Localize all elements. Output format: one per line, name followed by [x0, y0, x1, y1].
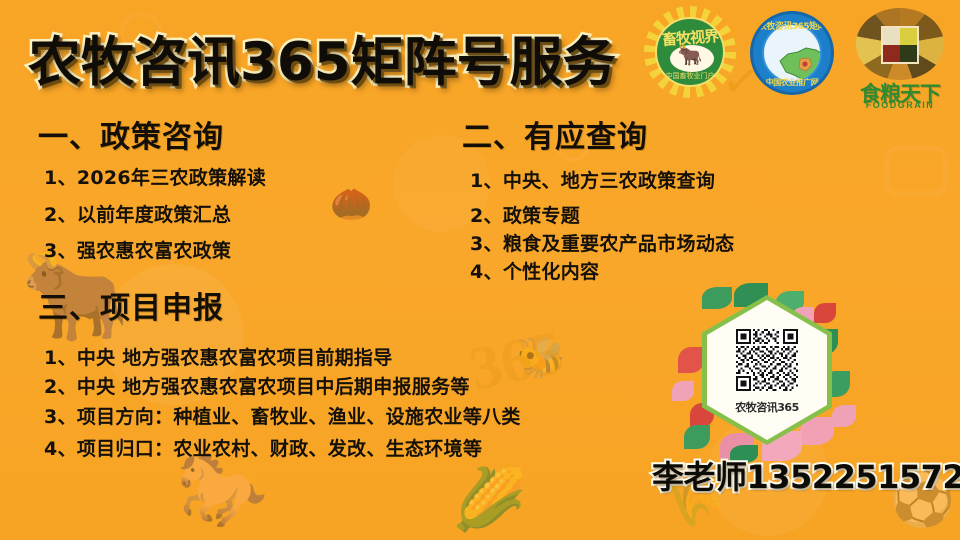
list-item: 3、强农惠农富农政策: [44, 236, 231, 263]
cow-icon: 🐂: [657, 46, 723, 66]
badge-inner-circle: [762, 23, 822, 83]
qr-code-icon[interactable]: [736, 329, 798, 391]
list-item: 2、以前年度政策汇总: [44, 200, 231, 227]
foodgrain-subtitle: FOODGRAIN: [848, 100, 952, 110]
china-map-badge: 农牧咨讯365矩阵 中国农业推广网: [750, 11, 834, 95]
section-heading-project-application: 三、项目申报: [38, 283, 224, 327]
page-title: 农牧咨讯365矩阵号服务: [28, 20, 616, 96]
list-item: 3、粮食及重要农产品市场动态: [470, 229, 734, 256]
list-item: 1、2026年三农政策解读: [44, 163, 266, 190]
section-heading-response-query: 二、有应查询: [462, 112, 648, 156]
list-item: 1、中央 地方强农惠农富农项目前期指导: [44, 343, 393, 370]
poster-canvas: ✓ 🐂 🐎 🌽 🌾 ⚽ 🌰 🐝 365 农牧咨讯365矩阵号服务 畜牧视界 🐂 …: [0, 0, 960, 540]
qr-code-block[interactable]: 农牧咨讯365: [672, 285, 862, 463]
list-item: 1、中央、地方三农政策查询: [470, 166, 715, 193]
list-item: 3、项目方向：种植业、畜牧业、渔业、设施农业等八类: [44, 402, 521, 429]
badge-bottom-label: 中国畜牧业门户: [657, 71, 723, 81]
livestock-vision-badge: 畜牧视界 🐂 中国畜牧业门户: [644, 6, 736, 98]
section-heading-policy-consult: 一、政策咨询: [38, 112, 224, 156]
badge-top-label: 农牧咨讯365矩阵: [753, 19, 831, 32]
badge-bottom-label: 中国农业推广网: [753, 77, 831, 88]
green-disc: 畜牧视界 🐂 中国畜牧业门户: [655, 17, 725, 87]
logo-group: 畜牧视界 🐂 中国畜牧业门户 农牧咨讯365矩阵: [644, 6, 952, 110]
hexagon-frame: 农牧咨讯365: [702, 295, 832, 445]
grain-quadrants: [881, 26, 919, 64]
list-item: 2、中央 地方强农惠农富农项目中后期申报服务等: [44, 372, 470, 399]
list-item: 4、个性化内容: [470, 257, 599, 284]
contact-info: 李老师13522515725: [652, 452, 960, 498]
poster-header: 农牧咨讯365矩阵号服务 畜牧视界 🐂 中国畜牧业门户: [0, 0, 960, 112]
foodgrain-logo: 食粮天下 FOODGRAIN: [848, 6, 952, 110]
list-item: 2、政策专题: [470, 201, 580, 228]
list-item: 4、项目归口：农业农村、财政、发改、生态环境等: [44, 434, 482, 461]
blue-disc: 农牧咨讯365矩阵 中国农业推广网: [750, 11, 834, 95]
qr-caption: 农牧咨讯365: [702, 399, 832, 415]
